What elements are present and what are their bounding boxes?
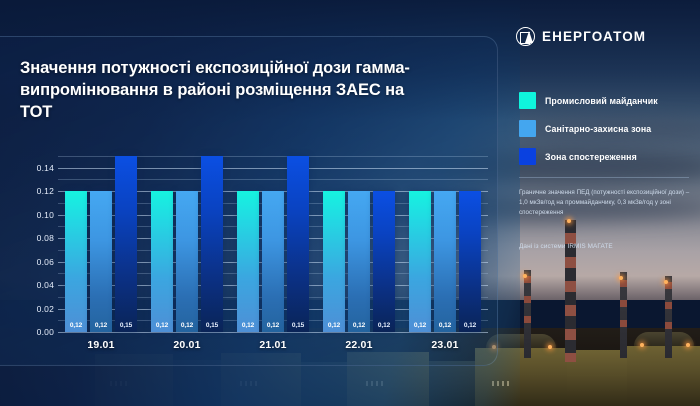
light-glow xyxy=(664,280,668,284)
bar-value-label: 0,12 xyxy=(90,322,112,329)
divider xyxy=(519,177,689,178)
bar-value-label: 0,15 xyxy=(115,322,137,329)
reactor-building xyxy=(627,346,700,406)
bar[interactable]: 0,15 xyxy=(287,156,309,332)
x-tick-label: 20.01 xyxy=(173,339,200,351)
bar-group: 0,120,120,15 xyxy=(65,150,137,332)
bar[interactable]: 0,12 xyxy=(90,191,112,332)
source-text: Дані із системи IRMIS МАГАТЕ xyxy=(519,243,691,250)
bar-value-label: 0,12 xyxy=(151,322,173,329)
bar[interactable]: 0,15 xyxy=(115,156,137,332)
bar-value-label: 0,12 xyxy=(176,322,198,329)
bar-value-label: 0,12 xyxy=(348,322,370,329)
bar[interactable]: 0,12 xyxy=(459,191,481,332)
legend-label: Санітарно-захисна зона xyxy=(545,124,651,134)
brand-name: ЕНЕРГОАТОМ xyxy=(542,29,646,44)
bar-group: 0,120,120,15 xyxy=(151,150,223,332)
bar[interactable]: 0,12 xyxy=(373,191,395,332)
energoatom-logo-icon xyxy=(516,27,535,46)
bar[interactable]: 0,12 xyxy=(409,191,431,332)
bar[interactable]: 0,12 xyxy=(65,191,87,332)
ventilation-stack xyxy=(524,270,531,358)
x-tick-label: 19.01 xyxy=(87,339,114,351)
brand-logo: ЕНЕРГОАТОМ xyxy=(516,27,646,46)
y-tick-label: 0.10 xyxy=(37,210,54,220)
bar[interactable]: 0,12 xyxy=(262,191,284,332)
bar-value-label: 0,12 xyxy=(65,322,87,329)
bar[interactable]: 0,12 xyxy=(348,191,370,332)
legend-label: Зона спостереження xyxy=(545,152,637,162)
bar[interactable]: 0,12 xyxy=(434,191,456,332)
light-glow xyxy=(640,343,644,347)
ventilation-stack xyxy=(665,276,672,358)
y-tick-label: 0.08 xyxy=(37,233,54,243)
bar-chart: 0.140.120.100.080.060.040.020.00 0,120,1… xyxy=(14,150,488,332)
x-tick-label: 21.01 xyxy=(259,339,286,351)
bar[interactable]: 0,12 xyxy=(237,191,259,332)
bar-group: 0,120,120,12 xyxy=(409,150,481,332)
x-tick-label: 23.01 xyxy=(431,339,458,351)
x-tick-label: 22.01 xyxy=(345,339,372,351)
legend-item[interactable]: Санітарно-захисна зона xyxy=(519,120,700,137)
y-tick-label: 0.04 xyxy=(37,280,54,290)
note-text: Граничне значення ПЕД (потужності експоз… xyxy=(519,188,691,218)
bar-value-label: 0,12 xyxy=(409,322,431,329)
light-glow xyxy=(686,343,690,347)
gridline-major xyxy=(58,332,488,333)
ventilation-stack xyxy=(565,220,576,362)
y-tick-label: 0.02 xyxy=(37,304,54,314)
light-glow xyxy=(523,274,527,278)
chart-legend: Промисловий майданчикСанітарно-захисна з… xyxy=(519,92,700,176)
legend-swatch xyxy=(519,92,536,109)
y-tick-label: 0.12 xyxy=(37,186,54,196)
legend-item[interactable]: Промисловий майданчик xyxy=(519,92,700,109)
bar[interactable]: 0,12 xyxy=(151,191,173,332)
reactor-building xyxy=(567,350,627,406)
bar-value-label: 0,12 xyxy=(459,322,481,329)
bar-value-label: 0,12 xyxy=(434,322,456,329)
light-glow xyxy=(567,219,571,223)
legend-swatch xyxy=(519,120,536,137)
page-title: Значення потужності експозиційної дози г… xyxy=(20,58,440,124)
bar-value-label: 0,15 xyxy=(287,322,309,329)
light-glow xyxy=(548,345,552,349)
bar[interactable]: 0,15 xyxy=(201,156,223,332)
bar-group: 0,120,120,15 xyxy=(237,150,309,332)
y-tick-label: 0.00 xyxy=(37,327,54,337)
y-tick-label: 0.14 xyxy=(37,163,54,173)
legend-swatch xyxy=(519,148,536,165)
bar[interactable]: 0,12 xyxy=(323,191,345,332)
bar-value-label: 0,12 xyxy=(373,322,395,329)
plot-area: 0,120,120,150,120,120,150,120,120,150,12… xyxy=(58,150,488,332)
legend-item[interactable]: Зона спостереження xyxy=(519,148,700,165)
bar-group: 0,120,120,12 xyxy=(323,150,395,332)
bar-value-label: 0,12 xyxy=(237,322,259,329)
bar-value-label: 0,15 xyxy=(201,322,223,329)
bar-value-label: 0,12 xyxy=(323,322,345,329)
ventilation-stack xyxy=(620,272,627,358)
light-glow xyxy=(619,276,623,280)
bar-value-label: 0,12 xyxy=(262,322,284,329)
legend-label: Промисловий майданчик xyxy=(545,96,658,106)
y-tick-label: 0.06 xyxy=(37,257,54,267)
bar[interactable]: 0,12 xyxy=(176,191,198,332)
x-axis-labels: 19.0120.0121.0122.0123.01 xyxy=(58,336,488,354)
